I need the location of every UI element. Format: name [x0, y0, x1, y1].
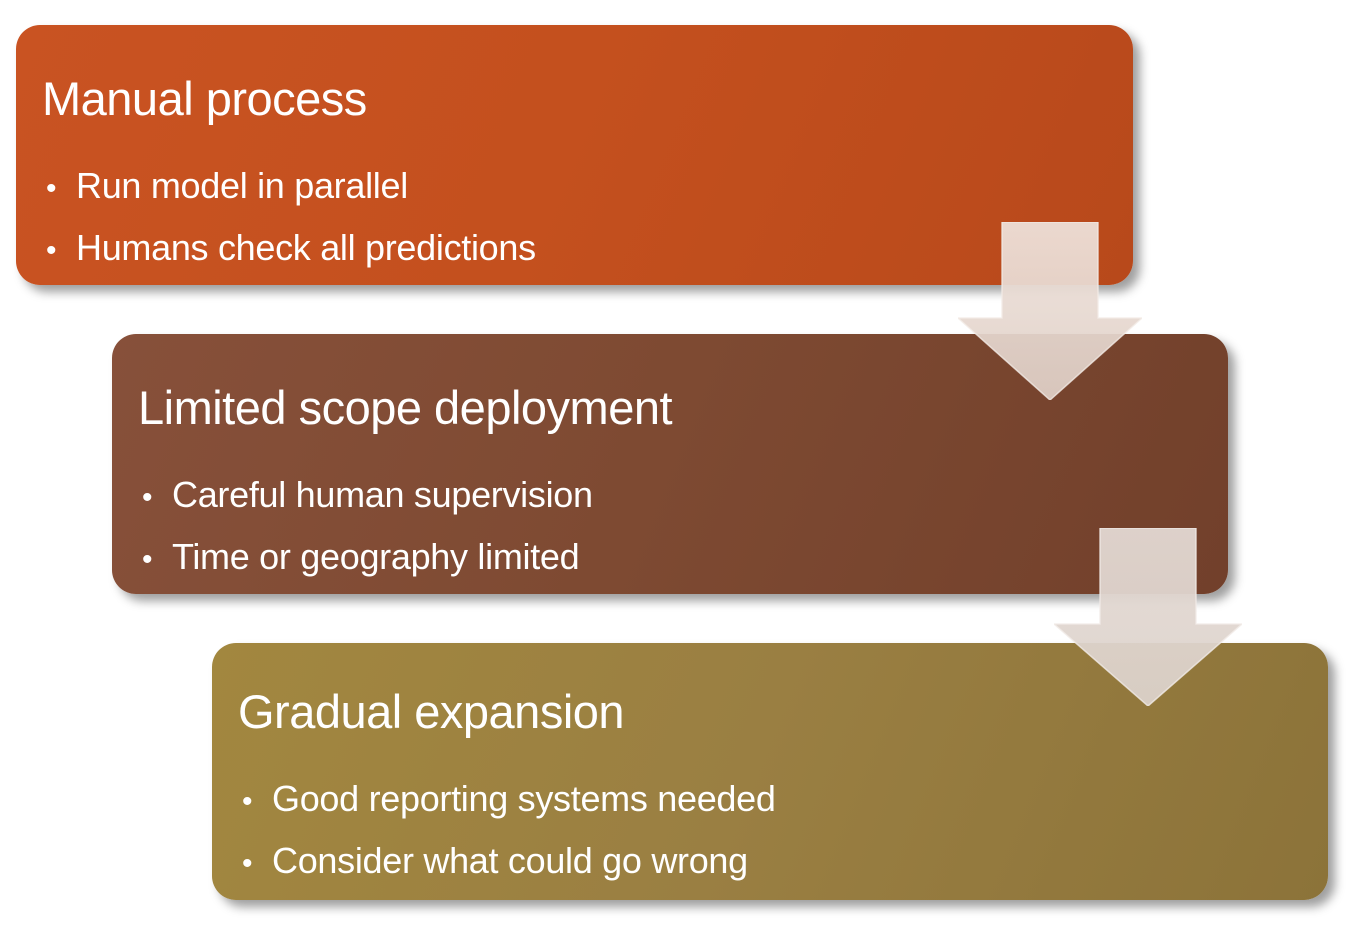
step-1-title: Manual process — [42, 75, 367, 122]
step-3-title: Gradual expansion — [238, 688, 624, 735]
process-step-box-2[interactable]: Limited scope deployment •Careful human … — [112, 334, 1228, 594]
step-1-bullet-list: •Run model in parallel •Humans check all… — [46, 168, 536, 266]
list-item: •Time or geography limited — [142, 539, 593, 575]
bullet-glyph-icon: • — [242, 849, 272, 879]
bullet-glyph-icon: • — [46, 236, 76, 266]
list-item: •Good reporting systems needed — [242, 781, 776, 817]
step-1-bullet-2: Humans check all predictions — [76, 227, 536, 268]
list-item: •Careful human supervision — [142, 477, 593, 513]
step-2-title: Limited scope deployment — [138, 384, 672, 431]
step-1-bullet-1: Run model in parallel — [76, 165, 408, 206]
bullet-glyph-icon: • — [242, 787, 272, 817]
list-item: •Run model in parallel — [46, 168, 536, 204]
step-3-bullet-list: •Good reporting systems needed •Consider… — [242, 781, 776, 879]
step-3-bullet-1: Good reporting systems needed — [272, 778, 776, 819]
step-3-bullet-2: Consider what could go wrong — [272, 840, 748, 881]
process-step-box-1[interactable]: Manual process •Run model in parallel •H… — [16, 25, 1133, 285]
bullet-glyph-icon: • — [46, 174, 76, 204]
diagram-canvas: Manual process •Run model in parallel •H… — [0, 0, 1358, 928]
step-2-bullet-2: Time or geography limited — [172, 536, 579, 577]
step-2-bullet-list: •Careful human supervision •Time or geog… — [142, 477, 593, 575]
list-item: •Humans check all predictions — [46, 230, 536, 266]
step-2-bullet-1: Careful human supervision — [172, 474, 593, 515]
bullet-glyph-icon: • — [142, 483, 172, 513]
list-item: •Consider what could go wrong — [242, 843, 776, 879]
bullet-glyph-icon: • — [142, 545, 172, 575]
process-step-box-3[interactable]: Gradual expansion •Good reporting system… — [212, 643, 1328, 900]
